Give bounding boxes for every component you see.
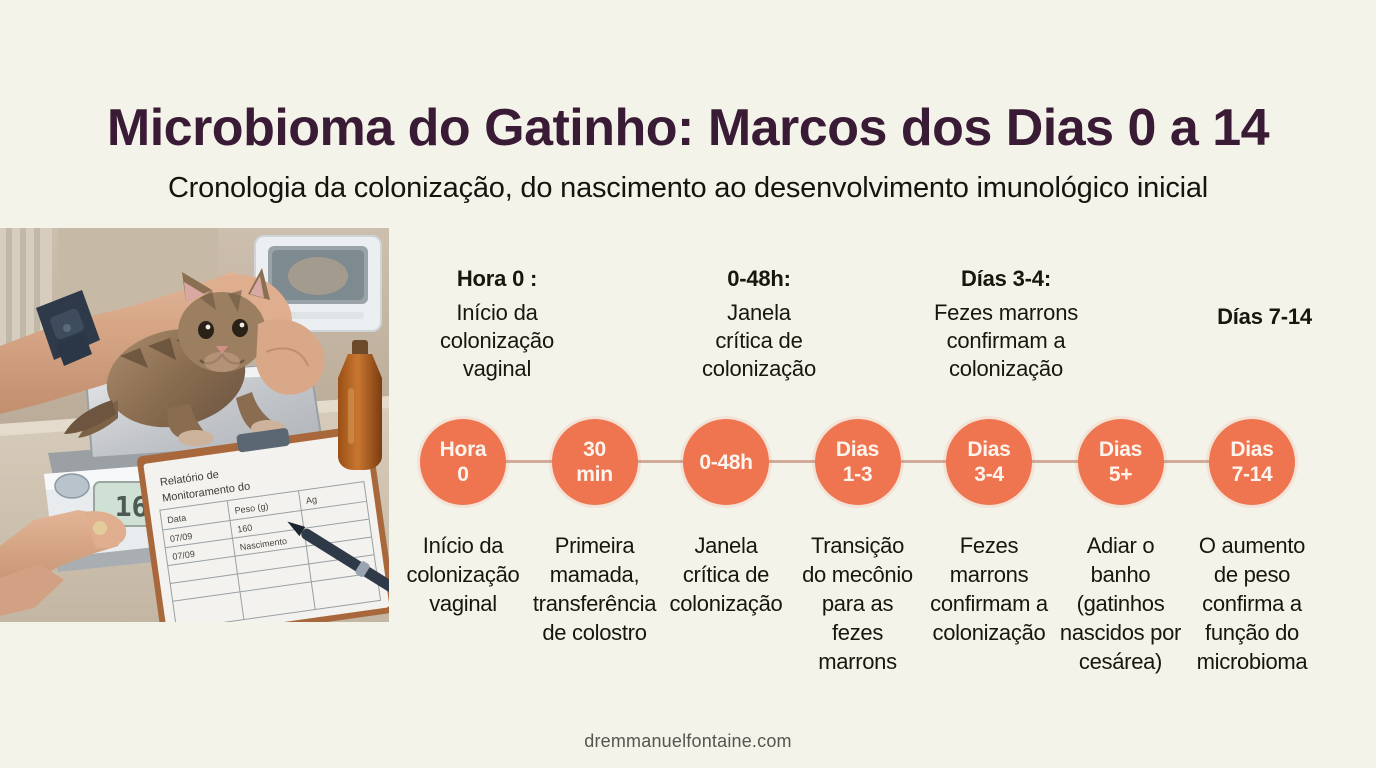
timeline-bottom-label-7: O aumento de peso confirma a função do m… <box>1190 531 1314 676</box>
timeline-node-4[interactable]: Dias1-3 <box>815 419 901 505</box>
infographic-canvas: Microbioma do Gatinho: Marcos dos Dias 0… <box>0 0 1376 768</box>
clipboard-col-ag: Ag <box>305 494 317 505</box>
timeline-top-label-detail: Início dacolonizaçãovaginal <box>397 299 597 383</box>
photo-illustration: 160 <box>0 228 389 622</box>
timeline-node-sublabel: min <box>576 462 612 487</box>
timeline-node-6[interactable]: Dias5+ <box>1078 419 1164 505</box>
timeline-top-label-heading: 0-48h: <box>659 265 859 292</box>
page-title: Microbioma do Gatinho: Marcos dos Dias 0… <box>0 98 1376 158</box>
timeline-top-label-4: Días 7-14 <box>1157 303 1372 337</box>
timeline-top-label-1: Hora 0 :Início dacolonizaçãovaginal <box>397 265 597 383</box>
timeline-node-3[interactable]: 0-48h <box>683 419 769 505</box>
timeline-bottom-label-2: Primeira mamada, transferência de colost… <box>532 531 658 647</box>
timeline-node-7[interactable]: Dias7-14 <box>1209 419 1295 505</box>
timeline-node-label: 0-48h <box>699 450 752 475</box>
timeline-node-sublabel: 0 <box>457 462 468 487</box>
timeline-node-label: 30 <box>583 437 606 462</box>
timeline-top-label-heading: Días 7-14 <box>1157 303 1372 330</box>
timeline-node-label: Dias <box>967 437 1010 462</box>
timeline-node-2[interactable]: 30min <box>552 419 638 505</box>
timeline-top-label-detail: Janelacrítica decolonização <box>659 299 859 383</box>
timeline: Hora030min0-48hDias1-3Dias3-4Dias5+Dias7… <box>397 255 1376 695</box>
timeline-bottom-label-6: Adiar o banho (gatinhos nascidos por ces… <box>1060 531 1182 676</box>
timeline-top-label-2: 0-48h:Janelacrítica decolonização <box>659 265 859 383</box>
timeline-node-sublabel: 7-14 <box>1232 462 1273 487</box>
timeline-node-sublabel: 3-4 <box>974 462 1003 487</box>
timeline-top-label-heading: Hora 0 : <box>397 265 597 292</box>
timeline-node-label: Dias <box>1230 437 1273 462</box>
timeline-node-5[interactable]: Dias3-4 <box>946 419 1032 505</box>
timeline-bottom-label-3: Janela crítica de colonização <box>667 531 785 618</box>
timeline-bottom-label-5: Fezes marrons confirmam a colonização <box>926 531 1052 647</box>
timeline-node-1[interactable]: Hora0 <box>420 419 506 505</box>
kitten-weighing-photo: 160 <box>0 228 389 622</box>
timeline-top-label-heading: Días 3-4: <box>897 265 1115 292</box>
timeline-node-label: Dias <box>1099 437 1142 462</box>
clipboard-cell-weight: 160 <box>237 523 253 535</box>
timeline-node-sublabel: 5+ <box>1109 462 1132 487</box>
timeline-node-label: Hora <box>440 437 487 462</box>
footer-url: dremmanuelfontaine.com <box>0 731 1376 752</box>
timeline-bottom-label-4: Transição do mecônio para as fezes marro… <box>798 531 918 676</box>
timeline-top-label-3: Días 3-4:Fezes marronsconfirmam acoloniz… <box>897 265 1115 383</box>
page-subtitle: Cronologia da colonização, do nascimento… <box>0 172 1376 205</box>
timeline-top-label-detail: Fezes marronsconfirmam acolonização <box>897 299 1115 383</box>
timeline-node-label: Dias <box>836 437 879 462</box>
timeline-node-sublabel: 1-3 <box>843 462 872 487</box>
timeline-bottom-label-1: Início da colonização vaginal <box>404 531 522 618</box>
